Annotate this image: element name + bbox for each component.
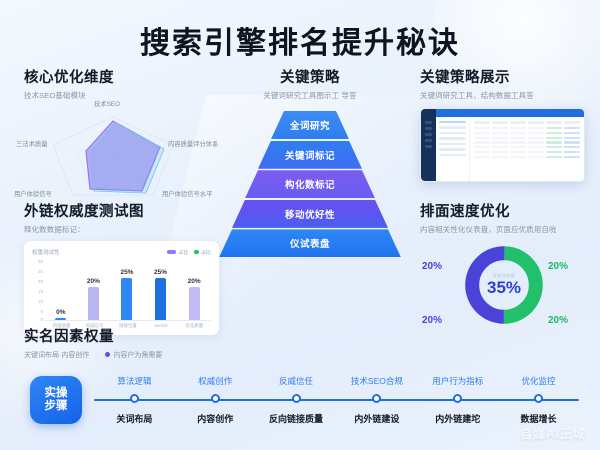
bar-column: 20% bbox=[188, 259, 201, 320]
step-top-label: 权威创作 bbox=[198, 375, 232, 387]
pyramid-level: 全词研究 bbox=[271, 111, 349, 139]
nav-item-2 bbox=[439, 132, 466, 134]
weight-legend: 内容户为角需要 bbox=[105, 350, 162, 360]
bar-caption: 权重测试性 bbox=[32, 248, 60, 256]
legend-item-1: 占比 bbox=[194, 249, 211, 256]
bar-subtitle: 释化数数据标记： bbox=[24, 224, 219, 235]
step-top-label: 优化监控 bbox=[522, 375, 556, 387]
pyramid-level-label: 全词研究 bbox=[290, 118, 330, 132]
legend-swatch-purple bbox=[167, 250, 176, 254]
table-row bbox=[474, 141, 580, 143]
pyramid-level-label: 仪试表盘 bbox=[290, 236, 330, 250]
bar-chart-section: 外链权威度测试图 释化数数据标记： 权重测试性 占比 占比 30 25 20 1… bbox=[24, 200, 219, 335]
steps-badge: 实操 步骤 bbox=[30, 376, 82, 424]
bar-y-axis: 30 25 20 15 10 5 0 bbox=[32, 259, 45, 321]
nav-item-6 bbox=[439, 154, 466, 156]
step-node[interactable]: 算法逻辑关词布局 bbox=[94, 372, 175, 434]
bar-heading: 外链权威度测试图 bbox=[24, 200, 219, 221]
step-marker-icon bbox=[534, 394, 543, 403]
pyramid-level: 构化数标记 bbox=[245, 170, 375, 198]
legend-label-1: 占比 bbox=[201, 249, 211, 256]
pyramid-level: 关键词标记 bbox=[258, 141, 362, 169]
donut-heading: 排面速度优化 bbox=[420, 200, 588, 221]
donut-label-top-right: 20% bbox=[548, 261, 568, 272]
dashboard-titlebar bbox=[436, 109, 584, 117]
pyramid-level: 移动优好性 bbox=[232, 200, 388, 228]
sidebar-icon-2 bbox=[425, 127, 432, 130]
table-row bbox=[474, 156, 580, 158]
bar-chart-card: 权重测试性 占比 占比 30 25 20 15 10 5 0 bbox=[24, 241, 219, 335]
step-top-label: 用户行为指标 bbox=[432, 375, 483, 387]
table-row bbox=[474, 137, 580, 139]
radar-heading: 核心优化维度 bbox=[24, 66, 214, 87]
donut-chart: 优化完成度 35% 20% 20% 20% 20% bbox=[420, 239, 588, 349]
ytick-2: 20 bbox=[38, 279, 43, 284]
table-row bbox=[474, 151, 580, 153]
step-top-label: 反威信任 bbox=[279, 375, 313, 387]
ytick-0: 30 bbox=[38, 259, 43, 264]
step-marker-icon bbox=[130, 394, 139, 403]
legend-label-0: 占比 bbox=[178, 249, 188, 256]
bar-column: 25% bbox=[154, 259, 167, 320]
step-bottom-label: 内外链建坨 bbox=[435, 412, 480, 425]
bar-value-label: 25% bbox=[120, 269, 133, 276]
watermark: 自媒AI王域 bbox=[520, 425, 586, 442]
step-bottom-label: 关词布局 bbox=[116, 412, 152, 425]
step-marker-icon bbox=[453, 394, 462, 403]
step-node[interactable]: 权威创作内容创作 bbox=[175, 372, 256, 434]
donut-label-bottom-left: 20% bbox=[422, 315, 442, 326]
bar-column: 20% bbox=[87, 259, 100, 320]
steps-badge-line2: 步骤 bbox=[45, 400, 68, 412]
radar-axis-label-0: 技术SEO bbox=[94, 99, 120, 108]
step-node[interactable]: 用户行为指标内外链建坨 bbox=[417, 372, 498, 434]
donut-center-value: 35% bbox=[487, 279, 521, 298]
bar-plot-area: 30 25 20 15 10 5 0 0%20%25%25%20% bbox=[32, 259, 211, 321]
dashboard-nav bbox=[436, 117, 470, 181]
donut-center: 优化完成度 35% bbox=[462, 243, 546, 327]
nav-item-1 bbox=[439, 126, 466, 128]
sidebar-icon-3 bbox=[425, 133, 432, 136]
dashboard-heading: 关键策略展示 bbox=[420, 66, 585, 87]
bar bbox=[55, 318, 66, 320]
step-bottom-label: 内容创作 bbox=[197, 412, 233, 425]
dashboard-screenshot bbox=[420, 108, 585, 182]
dashboard-table-header bbox=[474, 121, 580, 124]
legend-swatch-green bbox=[194, 250, 199, 255]
page-title: 搜索引擎排名提升秘诀 bbox=[0, 18, 600, 62]
bar bbox=[121, 278, 132, 320]
step-marker-icon bbox=[211, 394, 220, 403]
bar-value-label: 20% bbox=[87, 278, 100, 285]
pyramid-level-label: 构化数标记 bbox=[285, 177, 335, 191]
bar-column: 25% bbox=[120, 259, 133, 320]
radar-axis-label-5: 三法术质量 bbox=[16, 139, 47, 148]
pyramid-subtitle: 关键词研究工具图示工 导答 bbox=[215, 90, 405, 101]
dashboard-table bbox=[470, 117, 584, 181]
step-node[interactable]: 技术SEO合规内外链建设 bbox=[336, 372, 417, 434]
pyramid-level-label: 移动优好性 bbox=[285, 207, 335, 221]
step-marker-icon bbox=[372, 394, 381, 403]
pyramid-chart: 全词研究关键词标记构化数标记移动优好性仪试表盘 bbox=[215, 111, 405, 259]
table-row bbox=[474, 146, 580, 148]
step-bottom-label: 内外链建设 bbox=[354, 412, 399, 425]
bar-value-label: 25% bbox=[154, 269, 167, 276]
donut-label-bottom-right: 20% bbox=[548, 315, 568, 326]
ytick-5: 5 bbox=[40, 309, 43, 314]
weight-legend-label: 内容户为角需要 bbox=[113, 352, 162, 359]
steps-nodes: 算法逻辑关词布局权威创作内容创作反威信任反向链接质量技术SEO合规内外链建设用户… bbox=[94, 372, 579, 434]
step-top-label: 技术SEO合规 bbox=[351, 375, 403, 387]
radar-axis-label-1: 内容质量评分体系 bbox=[168, 139, 218, 148]
weight-legend-dot-icon bbox=[105, 352, 110, 357]
nav-item-5 bbox=[439, 148, 466, 150]
donut-section: 排面速度优化 内容相关性化仪表盘，页面应优质用自吮 优化完成度 35% 20% … bbox=[420, 200, 588, 349]
dashboard-subtitle: 关键词研究工具，结构数据工具答 bbox=[420, 90, 585, 101]
bar-column: 0% bbox=[55, 259, 66, 320]
pyramid-section: 关键策略 关键词研究工具图示工 导答 全词研究关键词标记构化数标记移动优好性仪试… bbox=[215, 66, 405, 259]
bar bbox=[155, 278, 166, 320]
radar-axis-label-2: 用户体验信号水平 bbox=[162, 189, 212, 198]
pyramid-heading: 关键策略 bbox=[215, 66, 405, 87]
pyramid-level-label: 关键词标记 bbox=[285, 148, 335, 162]
ytick-4: 10 bbox=[38, 299, 43, 304]
step-top-label: 算法逻辑 bbox=[117, 375, 151, 387]
radar-section: 核心优化维度 技术SEO基础模块 技术SEO 内容质量评分体系 用户体验信号水平… bbox=[24, 66, 214, 202]
table-row bbox=[474, 132, 580, 134]
step-node[interactable]: 反威信任反向链接质量 bbox=[256, 372, 337, 434]
bar-legend: 占比 占比 bbox=[167, 249, 211, 256]
ytick-6: 0 bbox=[40, 317, 43, 322]
step-marker-icon bbox=[292, 394, 301, 403]
nav-item-active bbox=[439, 121, 466, 123]
bar bbox=[88, 287, 99, 320]
sidebar-icon-5 bbox=[425, 145, 432, 148]
bar-value-label: 0% bbox=[56, 309, 65, 316]
ytick-1: 25 bbox=[38, 269, 43, 274]
weight-heading: 实名因素权量 bbox=[24, 325, 239, 346]
steps-badge-line1: 实操 bbox=[45, 387, 68, 399]
nav-item-3 bbox=[439, 137, 466, 139]
bar-series: 0%20%25%25%20% bbox=[45, 259, 211, 321]
pyramid-level: 仪试表盘 bbox=[219, 229, 401, 257]
ytick-3: 15 bbox=[38, 289, 43, 294]
step-bottom-label: 反向链接质量 bbox=[269, 412, 323, 425]
sidebar-icon-4 bbox=[425, 139, 432, 142]
radar-axis-label-4: 用户体验信号 bbox=[14, 189, 52, 198]
radar-chart: 技术SEO 内容质量评分体系 用户体验信号水平 据量达图 用户体验信号 三法术质… bbox=[24, 107, 214, 202]
bar bbox=[189, 287, 200, 320]
table-row bbox=[474, 127, 580, 129]
nav-item-4 bbox=[439, 143, 466, 145]
legend-item-0: 占比 bbox=[167, 249, 188, 256]
donut-label-top-left: 20% bbox=[422, 261, 442, 272]
weight-section: 实名因素权量 关键词布局·内容创作 内容户为角需要 bbox=[24, 325, 239, 360]
dashboard-sidebar bbox=[421, 109, 436, 181]
weight-subtitle: 关键词布局·内容创作 bbox=[24, 350, 89, 360]
donut-subtitle: 内容相关性化仪表盘，页面应优质用自吮 bbox=[420, 224, 588, 235]
dashboard-section: 关键策略展示 关键词研究工具，结构数据工具答 bbox=[420, 66, 585, 182]
sidebar-icon-1 bbox=[425, 121, 432, 124]
step-bottom-label: 数据增长 bbox=[521, 412, 557, 425]
steps-section: 实操 步骤 算法逻辑关词布局权威创作内容创作反威信任反向链接质量技术SEO合规内… bbox=[20, 372, 585, 434]
bar-value-label: 20% bbox=[188, 278, 201, 285]
